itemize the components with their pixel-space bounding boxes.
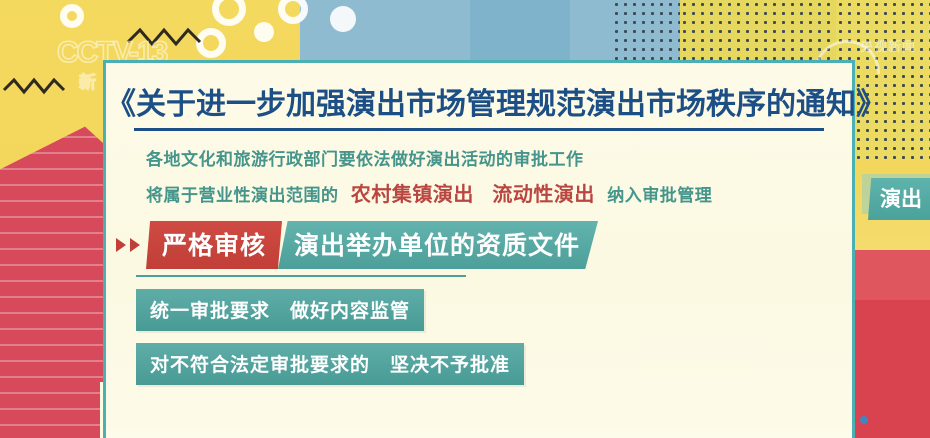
deco-circle (254, 22, 274, 42)
deco-circle (330, 6, 356, 32)
side-tag-performance: 演出 (868, 178, 930, 220)
body-line-1: 各地文化和旅游行政部门要依法做好演出活动的审批工作 (106, 145, 852, 170)
chevron-right-icon (116, 236, 142, 254)
banner-no-approval: 对不符合法定审批要求的 坚决不予批准 (136, 343, 524, 385)
title-underline (134, 128, 824, 131)
deco-zigzag-icon (126, 26, 236, 52)
broadcast-frame: CCTV-13 新闻 央视新闻 《关于进一步加强演出市场管理规范演出市场秩序的通… (0, 0, 930, 438)
body-line-2: 将属于营业性演出范围的 农村集镇演出 流动性演出 纳入审批管理 (106, 178, 852, 207)
banner-qualification-docs: 演出举办单位的资质文件 (278, 221, 598, 269)
deco-circle-ring (60, 4, 84, 28)
highlight-rural-performance: 农村集镇演出 (345, 182, 480, 206)
highlight-mobile-performance: 流动性演出 (486, 182, 601, 206)
info-card: 《关于进一步加强演出市场管理规范演出市场秩序的通知》 各地文化和旅游行政部门要依… (103, 60, 855, 438)
background-blue-band-2 (470, 0, 570, 62)
banner-unified-review: 统一审批要求 做好内容监管 (136, 289, 424, 331)
banner-strict-review: 严格审核 (146, 221, 282, 269)
deco-zigzag-icon (2, 76, 92, 98)
highlight-banner-row: 严格审核 演出举办单位的资质文件 (106, 221, 852, 269)
body-line-2-prefix: 将属于营业性演出范围的 (146, 186, 339, 206)
channel-watermark: 央视新闻 (860, 36, 916, 55)
page-title: 《关于进一步加强演出市场管理规范演出市场秩序的通知》 (106, 79, 852, 123)
deco-blue-dot (860, 416, 868, 424)
body-line-2-suffix: 纳入审批管理 (607, 186, 712, 206)
